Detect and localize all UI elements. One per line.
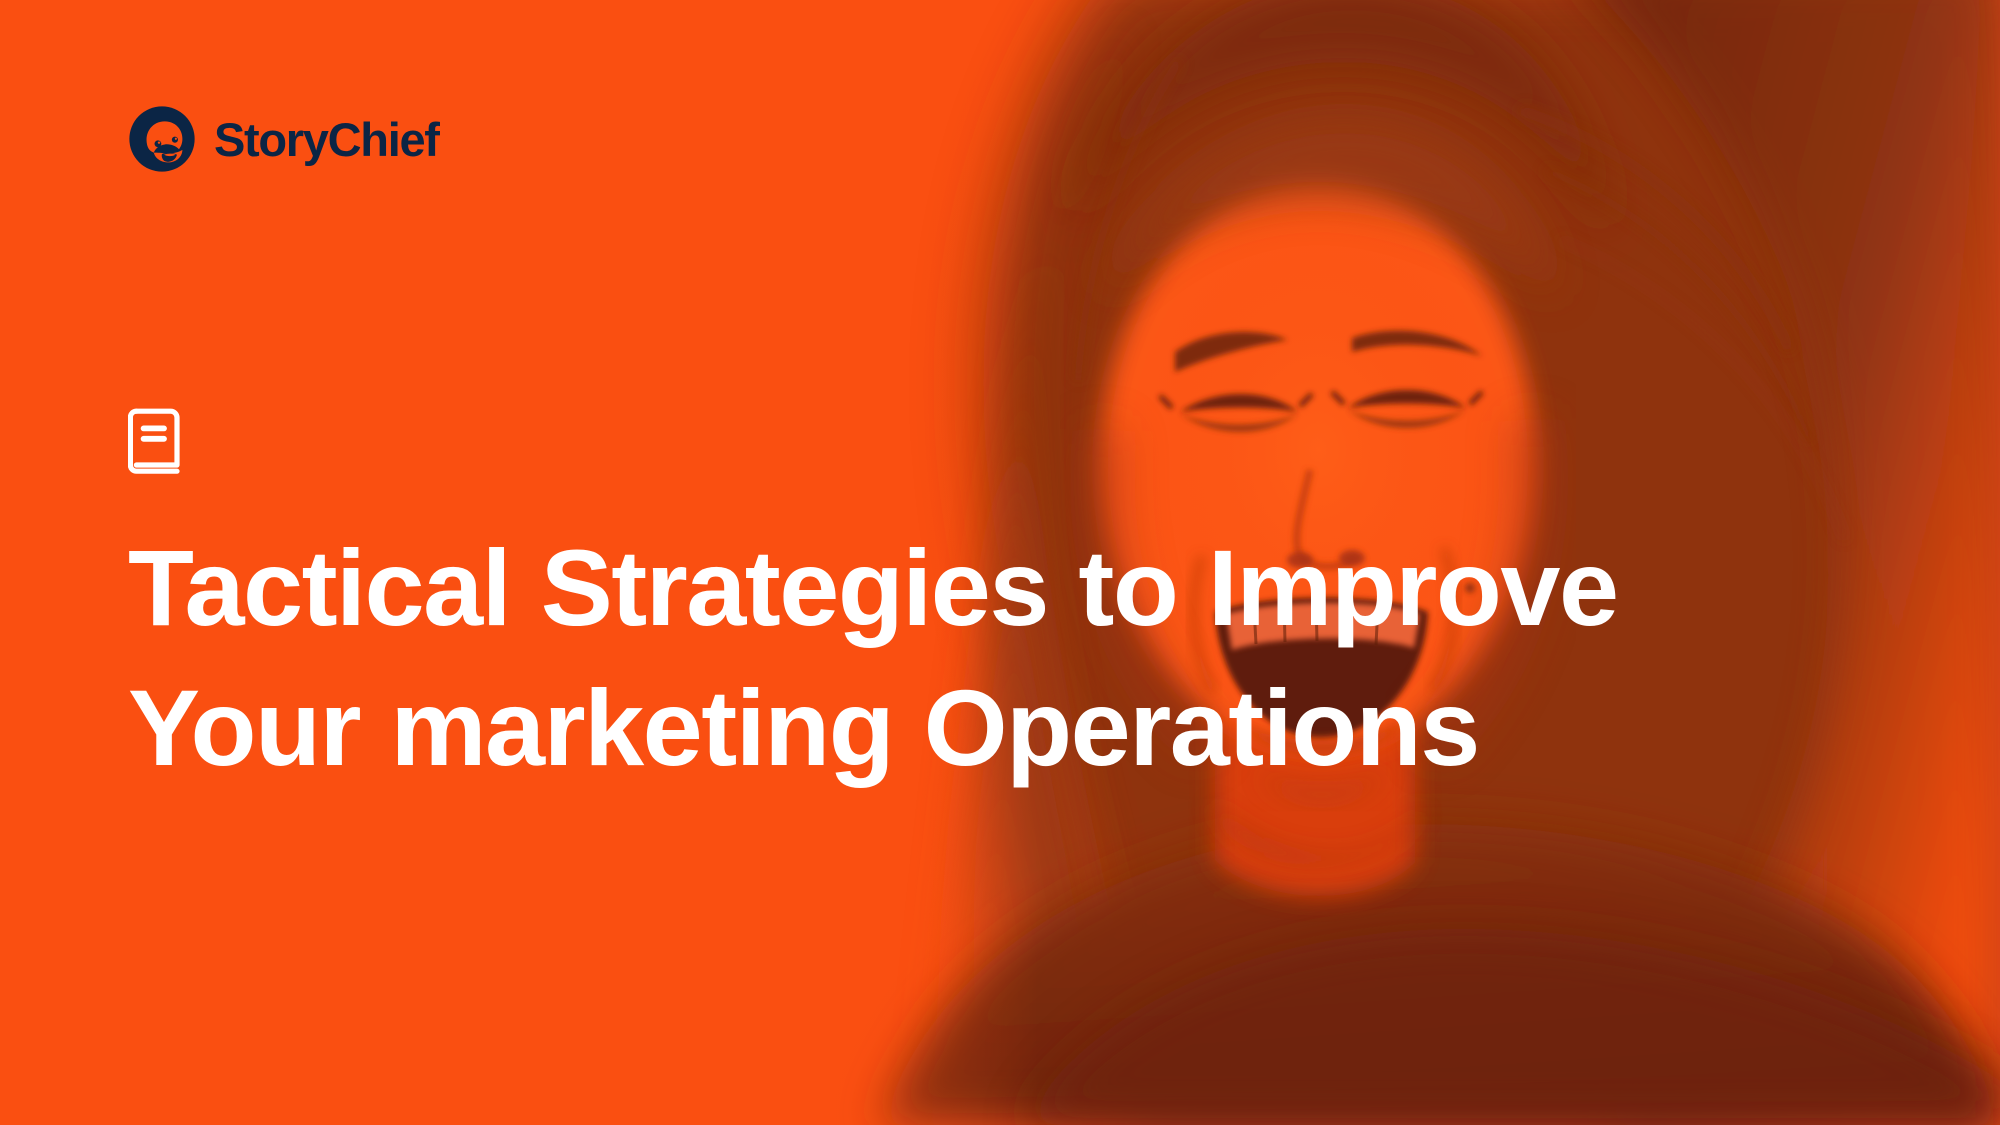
brand-name: StoryChief xyxy=(214,116,439,163)
social-share-card: StoryChief Tactical Strategies to Improv… xyxy=(0,0,2000,1125)
storychief-logo-icon[interactable] xyxy=(128,105,196,173)
book-icon xyxy=(128,408,184,474)
brand-lockup[interactable]: StoryChief xyxy=(128,104,439,174)
page-title: Tactical Strategies to Improve Your mark… xyxy=(128,518,1688,799)
article-content: Tactical Strategies to Improve Your mark… xyxy=(128,408,1828,799)
